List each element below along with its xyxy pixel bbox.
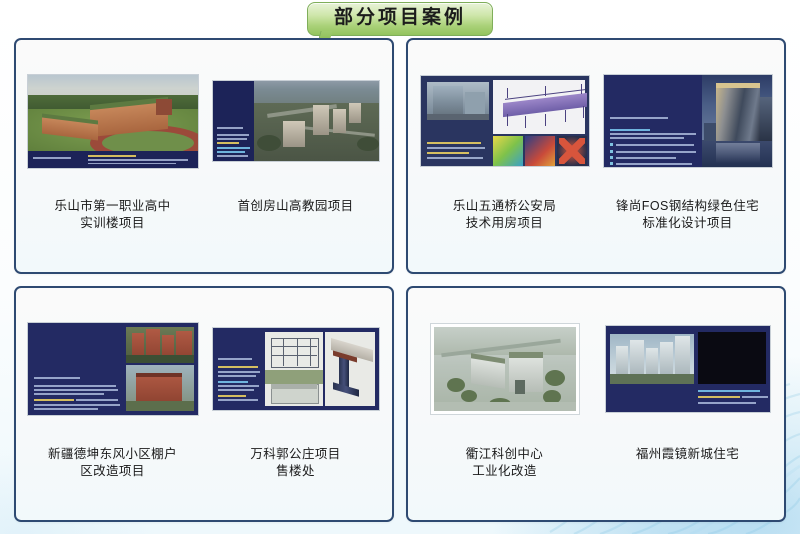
project-item[interactable]: 首创房山高教园项目 [207,50,384,266]
project-cards-grid: 乐山市第一职业高中 实训楼项目 [14,38,786,522]
thumbnail-red-brick-residential[interactable] [27,322,199,416]
thumbnail-holder [416,298,593,440]
thumbnail-holder [207,50,384,192]
project-caption: 锋尚FOS钢结构绿色住宅 标准化设计项目 [616,198,759,232]
page-title: 部分项目案例 [307,2,493,36]
thumbnail-holder [207,298,384,440]
thumbnail-holder [24,50,201,192]
project-caption: 乐山五通桥公安局 技术用房项目 [453,198,556,232]
thumbnail-office-complex-aerial[interactable] [430,323,580,415]
project-item[interactable]: 锋尚FOS钢结构绿色住宅 标准化设计项目 [599,50,776,266]
page-title-area: 部分项目案例 [0,2,800,36]
thumbnail-school-campus-rendering[interactable] [27,74,199,169]
project-item[interactable]: 衢江科创中心 工业化改造 [416,298,593,514]
project-caption: 福州霞镜新城住宅 [636,446,739,463]
project-item[interactable]: 乐山五通桥公安局 技术用房项目 [416,50,593,266]
project-item[interactable]: 万科郭公庄项目 售楼处 [207,298,384,514]
project-card-bottom-right[interactable]: 衢江科创中心 工业化改造 [406,286,786,522]
project-item[interactable]: 新疆德坤东风小区棚户 区改造项目 [24,298,201,514]
project-item[interactable]: 乐山市第一职业高中 实训楼项目 [24,50,201,266]
thumbnail-holder [599,50,776,192]
thumbnail-steel-frame-and-beam[interactable] [212,327,380,411]
thumbnail-night-glass-tower[interactable] [603,74,773,168]
thumbnail-aerial-campus-rendering[interactable] [212,80,380,162]
project-card-bottom-left[interactable]: 新疆德坤东风小区棚户 区改造项目 [14,286,394,522]
project-caption: 首创房山高教园项目 [237,198,353,215]
thumbnail-bim-steel-structure-composite[interactable] [420,75,590,167]
project-caption: 乐山市第一职业高中 实训楼项目 [54,198,170,232]
project-card-top-right[interactable]: 乐山五通桥公安局 技术用房项目 [406,38,786,274]
project-caption: 万科郭公庄项目 售楼处 [250,446,340,480]
project-caption: 新疆德坤东风小区棚户 区改造项目 [48,446,177,480]
project-card-top-left[interactable]: 乐山市第一职业高中 实训楼项目 [14,38,394,274]
project-item[interactable]: 福州霞镜新城住宅 [599,298,776,514]
thumbnail-holder [416,50,593,192]
thumbnail-holder [24,298,201,440]
project-caption: 衢江科创中心 工业化改造 [466,446,543,480]
thumbnail-residential-towers-and-cad-plan[interactable] [605,325,771,413]
thumbnail-holder [599,298,776,440]
